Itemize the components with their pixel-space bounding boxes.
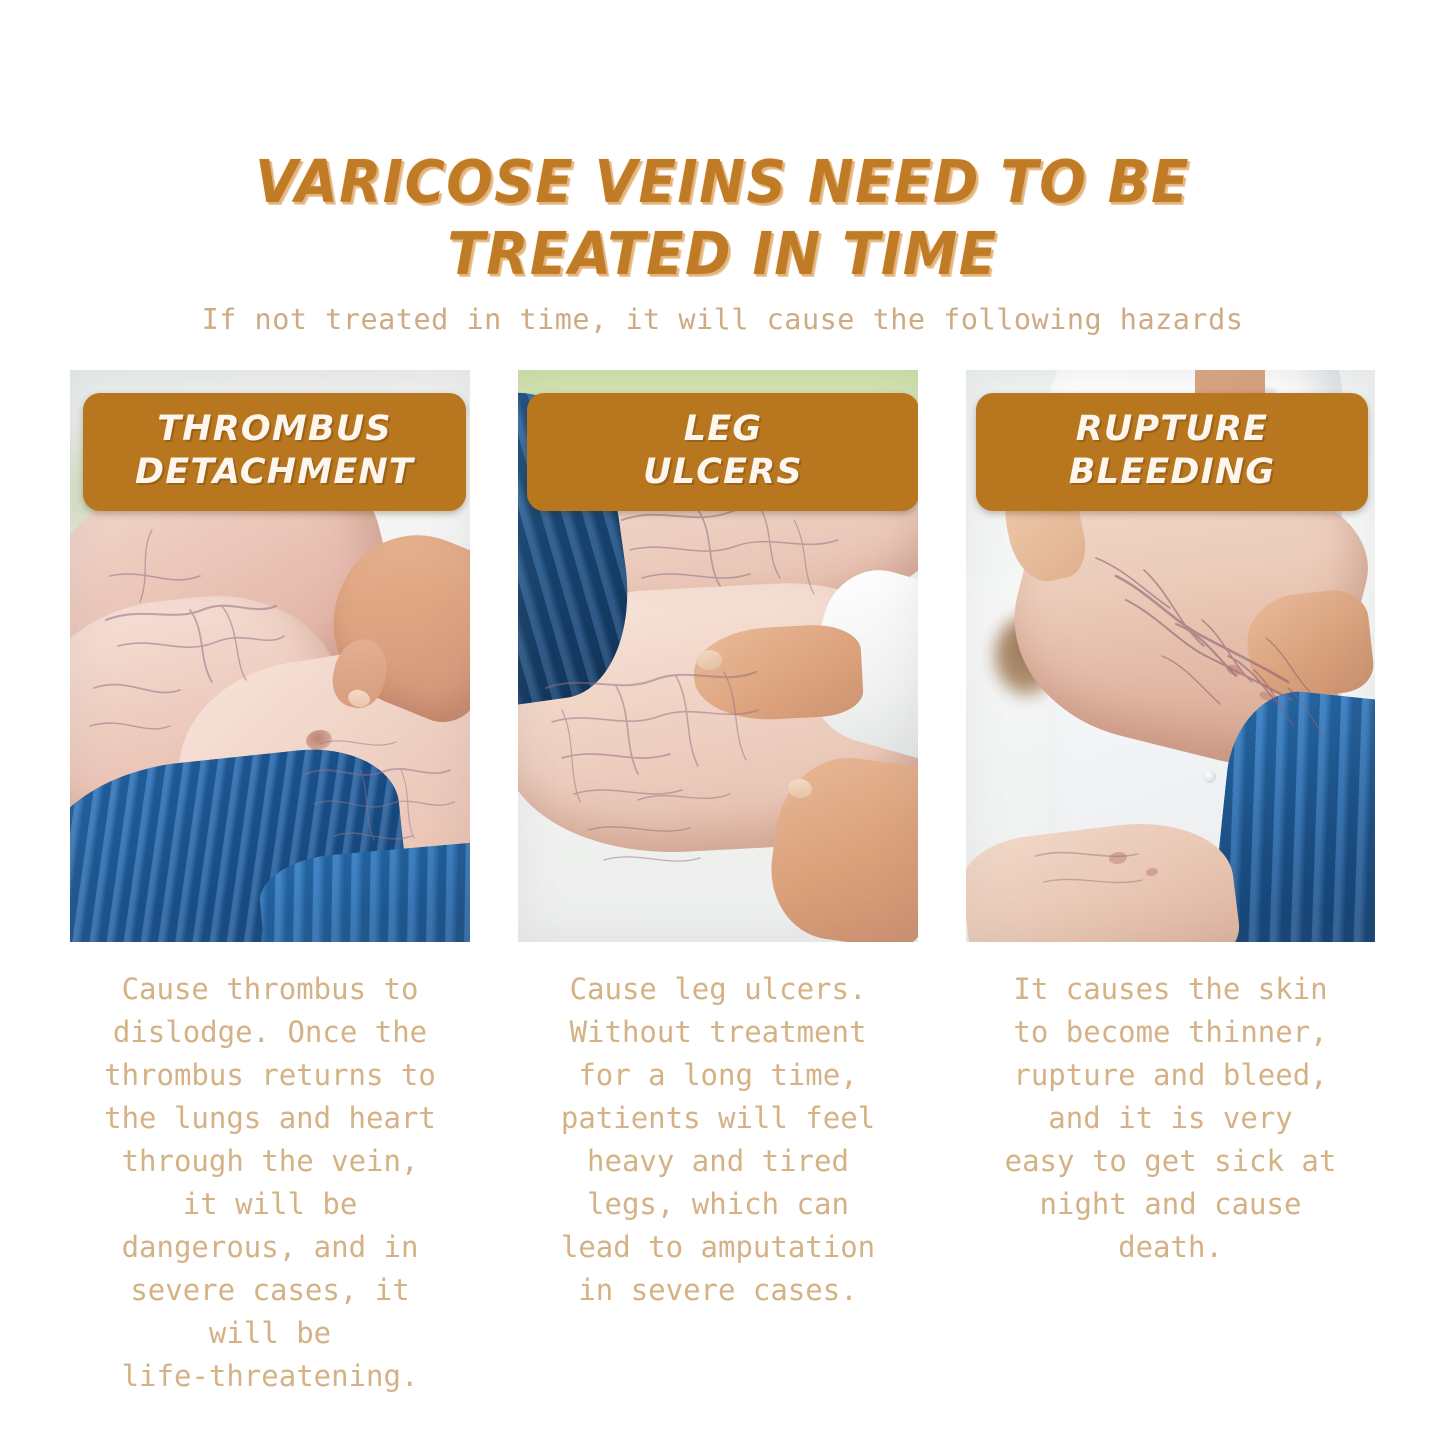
page-subtitle: If not treated in time, it will cause th… (0, 303, 1445, 337)
badge-line-1: RUPTURE (988, 408, 1356, 451)
title-line-1: VARICOSE VEINS NEED TO BE (51, 146, 1395, 218)
badge-thrombus-detachment: THROMBUS DETACHMENT (83, 393, 466, 511)
badge-line-2: DETACHMENT (95, 451, 454, 494)
badge-line-1: LEG (539, 408, 907, 451)
photo-rupture-bleeding: RUPTURE BLEEDING (966, 370, 1375, 942)
hazard-card-thrombus-detachment: THROMBUS DETACHMENT Cause thrombus to di… (70, 370, 470, 942)
badge-leg-ulcers: LEG ULCERS (527, 393, 918, 511)
photo-leg-ulcers: LEG ULCERS (518, 370, 918, 942)
caption-thrombus-detachment: Cause thrombus to dislodge. Once the thr… (70, 968, 470, 1398)
infographic-poster: VARICOSE VEINS NEED TO BE TREATED IN TIM… (0, 0, 1445, 1445)
caption-rupture-bleeding: It causes the skin to become thinner, ru… (966, 968, 1375, 1269)
photo-thrombus-detachment: THROMBUS DETACHMENT (70, 370, 470, 942)
page-title: VARICOSE VEINS NEED TO BE TREATED IN TIM… (0, 146, 1445, 290)
hazard-card-rupture-bleeding: RUPTURE BLEEDING It causes the skin to b… (966, 370, 1366, 942)
badge-line-2: BLEEDING (988, 451, 1356, 494)
caption-leg-ulcers: Cause leg ulcers. Without treatment for … (518, 968, 918, 1312)
title-line-2: TREATED IN TIME (51, 218, 1395, 290)
badge-rupture-bleeding: RUPTURE BLEEDING (976, 393, 1368, 511)
hazard-card-list: THROMBUS DETACHMENT Cause thrombus to di… (0, 370, 1445, 1430)
badge-line-2: ULCERS (539, 451, 907, 494)
badge-line-1: THROMBUS (95, 408, 454, 451)
hazard-card-leg-ulcers: LEG ULCERS Cause leg ulcers. Without tre… (518, 370, 918, 942)
